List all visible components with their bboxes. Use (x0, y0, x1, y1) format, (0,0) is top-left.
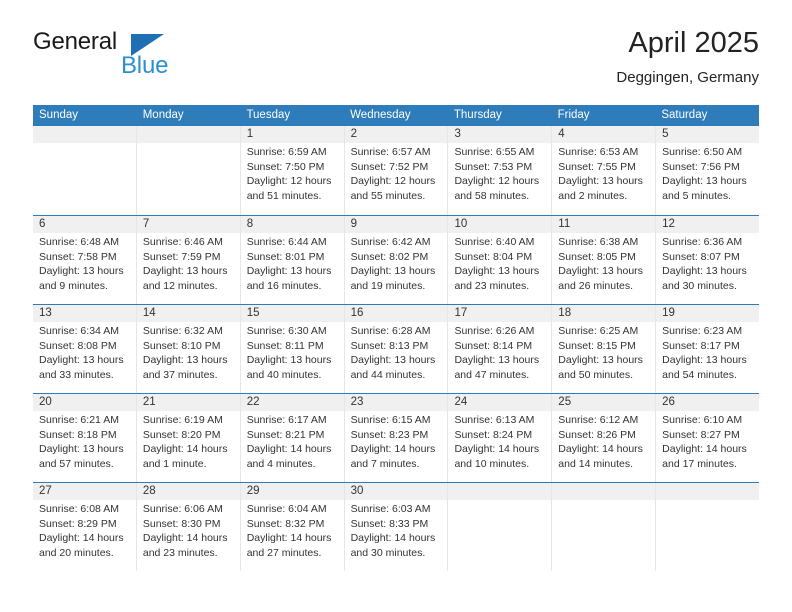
sunset-text: Sunset: 8:30 PM (143, 517, 235, 532)
daylight-text-line1: Daylight: 14 hours (143, 531, 235, 546)
daylight-text-line2: and 30 minutes. (662, 279, 754, 294)
daylight-text-line1: Daylight: 14 hours (351, 442, 443, 457)
daylight-text-line2: and 23 minutes. (143, 546, 235, 561)
day-number: 8 (241, 216, 344, 233)
sunset-text: Sunset: 8:29 PM (39, 517, 131, 532)
day-number: 28 (137, 483, 240, 500)
sunrise-text: Sunrise: 6:34 AM (39, 324, 131, 339)
day-details: Sunrise: 6:12 AMSunset: 8:26 PMDaylight:… (552, 411, 655, 471)
day-details: Sunrise: 6:28 AMSunset: 8:13 PMDaylight:… (345, 322, 448, 382)
sunset-text: Sunset: 8:21 PM (247, 428, 339, 443)
calendar-day-cell[interactable]: 14Sunrise: 6:32 AMSunset: 8:10 PMDayligh… (137, 305, 241, 393)
day-number: 11 (552, 216, 655, 233)
sunset-text: Sunset: 8:26 PM (558, 428, 650, 443)
daylight-text-line1: Daylight: 13 hours (558, 174, 650, 189)
calendar-day-cell[interactable]: 24Sunrise: 6:13 AMSunset: 8:24 PMDayligh… (448, 394, 552, 482)
day-details: Sunrise: 6:34 AMSunset: 8:08 PMDaylight:… (33, 322, 136, 382)
sunrise-text: Sunrise: 6:36 AM (662, 235, 754, 250)
daylight-text-line2: and 5 minutes. (662, 189, 754, 204)
day-number: 18 (552, 305, 655, 322)
day-number (552, 483, 655, 500)
daylight-text-line2: and 14 minutes. (558, 457, 650, 472)
day-details: Sunrise: 6:36 AMSunset: 8:07 PMDaylight:… (656, 233, 759, 293)
day-number: 12 (656, 216, 759, 233)
daylight-text-line2: and 51 minutes. (247, 189, 339, 204)
day-details: Sunrise: 6:21 AMSunset: 8:18 PMDaylight:… (33, 411, 136, 471)
daylight-text-line2: and 9 minutes. (39, 279, 131, 294)
sunrise-text: Sunrise: 6:04 AM (247, 502, 339, 517)
generalblue-logo[interactable]: General Blue (33, 28, 263, 88)
daylight-text-line1: Daylight: 12 hours (247, 174, 339, 189)
logo-text-general: General (33, 28, 117, 56)
sunset-text: Sunset: 8:20 PM (143, 428, 235, 443)
sunset-text: Sunset: 7:52 PM (351, 160, 443, 175)
daylight-text-line1: Daylight: 13 hours (662, 174, 754, 189)
day-details: Sunrise: 6:25 AMSunset: 8:15 PMDaylight:… (552, 322, 655, 382)
day-details: Sunrise: 6:46 AMSunset: 7:59 PMDaylight:… (137, 233, 240, 293)
calendar-day-cell-empty (33, 126, 137, 215)
calendar-day-cell[interactable]: 30Sunrise: 6:03 AMSunset: 8:33 PMDayligh… (345, 483, 449, 571)
sunrise-text: Sunrise: 6:26 AM (454, 324, 546, 339)
calendar-day-cell[interactable]: 25Sunrise: 6:12 AMSunset: 8:26 PMDayligh… (552, 394, 656, 482)
daylight-text-line2: and 23 minutes. (454, 279, 546, 294)
daylight-text-line1: Daylight: 14 hours (247, 442, 339, 457)
sunrise-text: Sunrise: 6:03 AM (351, 502, 443, 517)
calendar-day-cell[interactable]: 21Sunrise: 6:19 AMSunset: 8:20 PMDayligh… (137, 394, 241, 482)
sunset-text: Sunset: 7:55 PM (558, 160, 650, 175)
day-details: Sunrise: 6:55 AMSunset: 7:53 PMDaylight:… (448, 143, 551, 203)
calendar-day-cell[interactable]: 17Sunrise: 6:26 AMSunset: 8:14 PMDayligh… (448, 305, 552, 393)
weekday-header-friday: Friday (552, 105, 656, 126)
daylight-text-line1: Daylight: 13 hours (143, 264, 235, 279)
daylight-text-line1: Daylight: 13 hours (662, 353, 754, 368)
sunset-text: Sunset: 8:18 PM (39, 428, 131, 443)
day-number: 21 (137, 394, 240, 411)
day-details: Sunrise: 6:23 AMSunset: 8:17 PMDaylight:… (656, 322, 759, 382)
day-number (656, 483, 759, 500)
calendar-day-cell[interactable]: 12Sunrise: 6:36 AMSunset: 8:07 PMDayligh… (656, 216, 759, 304)
day-number: 5 (656, 126, 759, 143)
calendar-day-cell[interactable]: 4Sunrise: 6:53 AMSunset: 7:55 PMDaylight… (552, 126, 656, 215)
daylight-text-line1: Daylight: 14 hours (143, 442, 235, 457)
sunrise-text: Sunrise: 6:15 AM (351, 413, 443, 428)
weekday-header-tuesday: Tuesday (240, 105, 344, 126)
daylight-text-line1: Daylight: 12 hours (454, 174, 546, 189)
daylight-text-line2: and 10 minutes. (454, 457, 546, 472)
sunrise-text: Sunrise: 6:48 AM (39, 235, 131, 250)
calendar-day-cell[interactable]: 5Sunrise: 6:50 AMSunset: 7:56 PMDaylight… (656, 126, 759, 215)
weekday-header-wednesday: Wednesday (344, 105, 448, 126)
daylight-text-line1: Daylight: 13 hours (247, 353, 339, 368)
day-number: 1 (241, 126, 344, 143)
calendar-week-row: 20Sunrise: 6:21 AMSunset: 8:18 PMDayligh… (33, 393, 759, 482)
sunset-text: Sunset: 7:50 PM (247, 160, 339, 175)
daylight-text-line2: and 50 minutes. (558, 368, 650, 383)
sunrise-text: Sunrise: 6:13 AM (454, 413, 546, 428)
daylight-text-line2: and 7 minutes. (351, 457, 443, 472)
day-number: 16 (345, 305, 448, 322)
day-number: 6 (33, 216, 136, 233)
day-details: Sunrise: 6:40 AMSunset: 8:04 PMDaylight:… (448, 233, 551, 293)
daylight-text-line1: Daylight: 14 hours (454, 442, 546, 457)
sunrise-text: Sunrise: 6:57 AM (351, 145, 443, 160)
daylight-text-line1: Daylight: 13 hours (662, 264, 754, 279)
calendar-day-cell[interactable]: 1Sunrise: 6:59 AMSunset: 7:50 PMDaylight… (241, 126, 345, 215)
daylight-text-line1: Daylight: 13 hours (39, 264, 131, 279)
calendar-day-cell[interactable]: 19Sunrise: 6:23 AMSunset: 8:17 PMDayligh… (656, 305, 759, 393)
sunset-text: Sunset: 7:53 PM (454, 160, 546, 175)
sunrise-text: Sunrise: 6:21 AM (39, 413, 131, 428)
sunset-text: Sunset: 8:27 PM (662, 428, 754, 443)
day-details: Sunrise: 6:15 AMSunset: 8:23 PMDaylight:… (345, 411, 448, 471)
day-details: Sunrise: 6:13 AMSunset: 8:24 PMDaylight:… (448, 411, 551, 471)
day-details: Sunrise: 6:32 AMSunset: 8:10 PMDaylight:… (137, 322, 240, 382)
calendar-day-cell[interactable]: 6Sunrise: 6:48 AMSunset: 7:58 PMDaylight… (33, 216, 137, 304)
calendar-day-cell-empty (656, 483, 759, 571)
day-number: 26 (656, 394, 759, 411)
sunset-text: Sunset: 8:23 PM (351, 428, 443, 443)
day-number: 30 (345, 483, 448, 500)
calendar-day-cell[interactable]: 13Sunrise: 6:34 AMSunset: 8:08 PMDayligh… (33, 305, 137, 393)
weekday-header-monday: Monday (137, 105, 241, 126)
page-title: April 2025 (616, 26, 759, 60)
calendar-day-cell[interactable]: 27Sunrise: 6:08 AMSunset: 8:29 PMDayligh… (33, 483, 137, 571)
calendar-day-cell[interactable]: 20Sunrise: 6:21 AMSunset: 8:18 PMDayligh… (33, 394, 137, 482)
day-number (448, 483, 551, 500)
calendar-week-row: 6Sunrise: 6:48 AMSunset: 7:58 PMDaylight… (33, 215, 759, 304)
day-number: 14 (137, 305, 240, 322)
calendar-day-cell[interactable]: 8Sunrise: 6:44 AMSunset: 8:01 PMDaylight… (241, 216, 345, 304)
daylight-text-line1: Daylight: 14 hours (558, 442, 650, 457)
day-number: 24 (448, 394, 551, 411)
daylight-text-line1: Daylight: 14 hours (662, 442, 754, 457)
daylight-text-line2: and 55 minutes. (351, 189, 443, 204)
day-details: Sunrise: 6:38 AMSunset: 8:05 PMDaylight:… (552, 233, 655, 293)
day-details: Sunrise: 6:30 AMSunset: 8:11 PMDaylight:… (241, 322, 344, 382)
sunset-text: Sunset: 8:08 PM (39, 339, 131, 354)
sunrise-text: Sunrise: 6:38 AM (558, 235, 650, 250)
calendar-day-cell[interactable]: 29Sunrise: 6:04 AMSunset: 8:32 PMDayligh… (241, 483, 345, 571)
day-details: Sunrise: 6:53 AMSunset: 7:55 PMDaylight:… (552, 143, 655, 203)
daylight-text-line1: Daylight: 13 hours (143, 353, 235, 368)
calendar-day-cell[interactable]: 16Sunrise: 6:28 AMSunset: 8:13 PMDayligh… (345, 305, 449, 393)
sunrise-text: Sunrise: 6:50 AM (662, 145, 754, 160)
weekday-header-saturday: Saturday (655, 105, 759, 126)
day-details: Sunrise: 6:03 AMSunset: 8:33 PMDaylight:… (345, 500, 448, 560)
day-details: Sunrise: 6:42 AMSunset: 8:02 PMDaylight:… (345, 233, 448, 293)
daylight-text-line1: Daylight: 13 hours (39, 442, 131, 457)
daylight-text-line1: Daylight: 13 hours (454, 353, 546, 368)
day-details: Sunrise: 6:06 AMSunset: 8:30 PMDaylight:… (137, 500, 240, 560)
daylight-text-line1: Daylight: 14 hours (247, 531, 339, 546)
sunset-text: Sunset: 8:24 PM (454, 428, 546, 443)
daylight-text-line1: Daylight: 13 hours (454, 264, 546, 279)
calendar-week-row: 13Sunrise: 6:34 AMSunset: 8:08 PMDayligh… (33, 304, 759, 393)
calendar-day-cell-empty (137, 126, 241, 215)
daylight-text-line2: and 17 minutes. (662, 457, 754, 472)
daylight-text-line2: and 19 minutes. (351, 279, 443, 294)
sunset-text: Sunset: 8:11 PM (247, 339, 339, 354)
daylight-text-line2: and 12 minutes. (143, 279, 235, 294)
day-number: 2 (345, 126, 448, 143)
sunset-text: Sunset: 8:32 PM (247, 517, 339, 532)
day-details: Sunrise: 6:08 AMSunset: 8:29 PMDaylight:… (33, 500, 136, 560)
daylight-text-line2: and 16 minutes. (247, 279, 339, 294)
weekday-header-sunday: Sunday (33, 105, 137, 126)
sunrise-text: Sunrise: 6:25 AM (558, 324, 650, 339)
sunrise-text: Sunrise: 6:28 AM (351, 324, 443, 339)
daylight-text-line2: and 33 minutes. (39, 368, 131, 383)
calendar-day-cell[interactable]: 7Sunrise: 6:46 AMSunset: 7:59 PMDaylight… (137, 216, 241, 304)
calendar-grid: Sunday Monday Tuesday Wednesday Thursday… (33, 105, 759, 571)
daylight-text-line2: and 57 minutes. (39, 457, 131, 472)
daylight-text-line1: Daylight: 13 hours (351, 264, 443, 279)
daylight-text-line2: and 37 minutes. (143, 368, 235, 383)
day-details: Sunrise: 6:10 AMSunset: 8:27 PMDaylight:… (656, 411, 759, 471)
sunset-text: Sunset: 8:13 PM (351, 339, 443, 354)
day-number: 27 (33, 483, 136, 500)
sunrise-text: Sunrise: 6:42 AM (351, 235, 443, 250)
day-details: Sunrise: 6:44 AMSunset: 8:01 PMDaylight:… (241, 233, 344, 293)
day-number: 20 (33, 394, 136, 411)
day-number: 9 (345, 216, 448, 233)
sunrise-text: Sunrise: 6:59 AM (247, 145, 339, 160)
sunset-text: Sunset: 8:07 PM (662, 250, 754, 265)
calendar-day-cell[interactable]: 10Sunrise: 6:40 AMSunset: 8:04 PMDayligh… (448, 216, 552, 304)
day-details: Sunrise: 6:59 AMSunset: 7:50 PMDaylight:… (241, 143, 344, 203)
daylight-text-line2: and 4 minutes. (247, 457, 339, 472)
sunrise-text: Sunrise: 6:40 AM (454, 235, 546, 250)
page-subtitle: Deggingen, Germany (616, 69, 759, 87)
daylight-text-line2: and 1 minute. (143, 457, 235, 472)
daylight-text-line2: and 58 minutes. (454, 189, 546, 204)
day-number: 10 (448, 216, 551, 233)
sunset-text: Sunset: 8:14 PM (454, 339, 546, 354)
daylight-text-line1: Daylight: 13 hours (558, 264, 650, 279)
day-details: Sunrise: 6:57 AMSunset: 7:52 PMDaylight:… (345, 143, 448, 203)
daylight-text-line2: and 44 minutes. (351, 368, 443, 383)
title-block: April 2025 Deggingen, Germany (616, 26, 759, 87)
day-number: 25 (552, 394, 655, 411)
calendar-day-cell[interactable]: 9Sunrise: 6:42 AMSunset: 8:02 PMDaylight… (345, 216, 449, 304)
daylight-text-line2: and 20 minutes. (39, 546, 131, 561)
calendar-day-cell[interactable]: 18Sunrise: 6:25 AMSunset: 8:15 PMDayligh… (552, 305, 656, 393)
daylight-text-line2: and 26 minutes. (558, 279, 650, 294)
day-number: 3 (448, 126, 551, 143)
daylight-text-line2: and 30 minutes. (351, 546, 443, 561)
calendar-week-row: 1Sunrise: 6:59 AMSunset: 7:50 PMDaylight… (33, 126, 759, 215)
sunrise-text: Sunrise: 6:53 AM (558, 145, 650, 160)
day-details: Sunrise: 6:04 AMSunset: 8:32 PMDaylight:… (241, 500, 344, 560)
page-header: General Blue April 2025 Deggingen, Germa… (33, 26, 759, 98)
day-details: Sunrise: 6:19 AMSunset: 8:20 PMDaylight:… (137, 411, 240, 471)
day-number: 4 (552, 126, 655, 143)
daylight-text-line1: Daylight: 13 hours (247, 264, 339, 279)
sunset-text: Sunset: 7:56 PM (662, 160, 754, 175)
calendar-day-cell[interactable]: 15Sunrise: 6:30 AMSunset: 8:11 PMDayligh… (241, 305, 345, 393)
day-number: 19 (656, 305, 759, 322)
daylight-text-line1: Daylight: 14 hours (39, 531, 131, 546)
calendar-day-cell[interactable]: 28Sunrise: 6:06 AMSunset: 8:30 PMDayligh… (137, 483, 241, 571)
daylight-text-line2: and 27 minutes. (247, 546, 339, 561)
sunset-text: Sunset: 8:17 PM (662, 339, 754, 354)
sunrise-text: Sunrise: 6:46 AM (143, 235, 235, 250)
day-number: 22 (241, 394, 344, 411)
calendar-page: General Blue April 2025 Deggingen, Germa… (0, 0, 792, 612)
daylight-text-line1: Daylight: 12 hours (351, 174, 443, 189)
day-number: 17 (448, 305, 551, 322)
calendar-day-cell[interactable]: 22Sunrise: 6:17 AMSunset: 8:21 PMDayligh… (241, 394, 345, 482)
sunrise-text: Sunrise: 6:12 AM (558, 413, 650, 428)
sunset-text: Sunset: 7:58 PM (39, 250, 131, 265)
sunset-text: Sunset: 8:01 PM (247, 250, 339, 265)
daylight-text-line1: Daylight: 13 hours (351, 353, 443, 368)
day-details: Sunrise: 6:48 AMSunset: 7:58 PMDaylight:… (33, 233, 136, 293)
calendar-day-cell[interactable]: 23Sunrise: 6:15 AMSunset: 8:23 PMDayligh… (345, 394, 449, 482)
calendar-day-cell-empty (552, 483, 656, 571)
sunrise-text: Sunrise: 6:32 AM (143, 324, 235, 339)
day-number (33, 126, 136, 143)
daylight-text-line2: and 47 minutes. (454, 368, 546, 383)
sunset-text: Sunset: 8:15 PM (558, 339, 650, 354)
sunrise-text: Sunrise: 6:17 AM (247, 413, 339, 428)
day-number: 23 (345, 394, 448, 411)
day-number (137, 126, 240, 143)
sunrise-text: Sunrise: 6:30 AM (247, 324, 339, 339)
weekday-header-row: Sunday Monday Tuesday Wednesday Thursday… (33, 105, 759, 126)
calendar-week-row: 27Sunrise: 6:08 AMSunset: 8:29 PMDayligh… (33, 482, 759, 571)
day-details: Sunrise: 6:26 AMSunset: 8:14 PMDaylight:… (448, 322, 551, 382)
sunset-text: Sunset: 8:02 PM (351, 250, 443, 265)
daylight-text-line2: and 54 minutes. (662, 368, 754, 383)
daylight-text-line1: Daylight: 13 hours (39, 353, 131, 368)
sunrise-text: Sunrise: 6:23 AM (662, 324, 754, 339)
day-number: 13 (33, 305, 136, 322)
sunrise-text: Sunrise: 6:10 AM (662, 413, 754, 428)
day-number: 15 (241, 305, 344, 322)
day-details: Sunrise: 6:17 AMSunset: 8:21 PMDaylight:… (241, 411, 344, 471)
calendar-day-cell[interactable]: 11Sunrise: 6:38 AMSunset: 8:05 PMDayligh… (552, 216, 656, 304)
day-details: Sunrise: 6:50 AMSunset: 7:56 PMDaylight:… (656, 143, 759, 203)
sunrise-text: Sunrise: 6:55 AM (454, 145, 546, 160)
day-number: 29 (241, 483, 344, 500)
daylight-text-line2: and 40 minutes. (247, 368, 339, 383)
logo-text-blue: Blue (121, 52, 168, 80)
calendar-weeks: 1Sunrise: 6:59 AMSunset: 7:50 PMDaylight… (33, 126, 759, 571)
weekday-header-thursday: Thursday (448, 105, 552, 126)
sunrise-text: Sunrise: 6:44 AM (247, 235, 339, 250)
daylight-text-line1: Daylight: 14 hours (351, 531, 443, 546)
sunset-text: Sunset: 8:33 PM (351, 517, 443, 532)
sunrise-text: Sunrise: 6:19 AM (143, 413, 235, 428)
sunset-text: Sunset: 8:04 PM (454, 250, 546, 265)
day-number: 7 (137, 216, 240, 233)
daylight-text-line1: Daylight: 13 hours (558, 353, 650, 368)
calendar-day-cell[interactable]: 26Sunrise: 6:10 AMSunset: 8:27 PMDayligh… (656, 394, 759, 482)
calendar-day-cell[interactable]: 2Sunrise: 6:57 AMSunset: 7:52 PMDaylight… (345, 126, 449, 215)
sunset-text: Sunset: 8:10 PM (143, 339, 235, 354)
sunset-text: Sunset: 8:05 PM (558, 250, 650, 265)
calendar-day-cell[interactable]: 3Sunrise: 6:55 AMSunset: 7:53 PMDaylight… (448, 126, 552, 215)
sunset-text: Sunset: 7:59 PM (143, 250, 235, 265)
sunrise-text: Sunrise: 6:08 AM (39, 502, 131, 517)
sunrise-text: Sunrise: 6:06 AM (143, 502, 235, 517)
daylight-text-line2: and 2 minutes. (558, 189, 650, 204)
calendar-day-cell-empty (448, 483, 552, 571)
